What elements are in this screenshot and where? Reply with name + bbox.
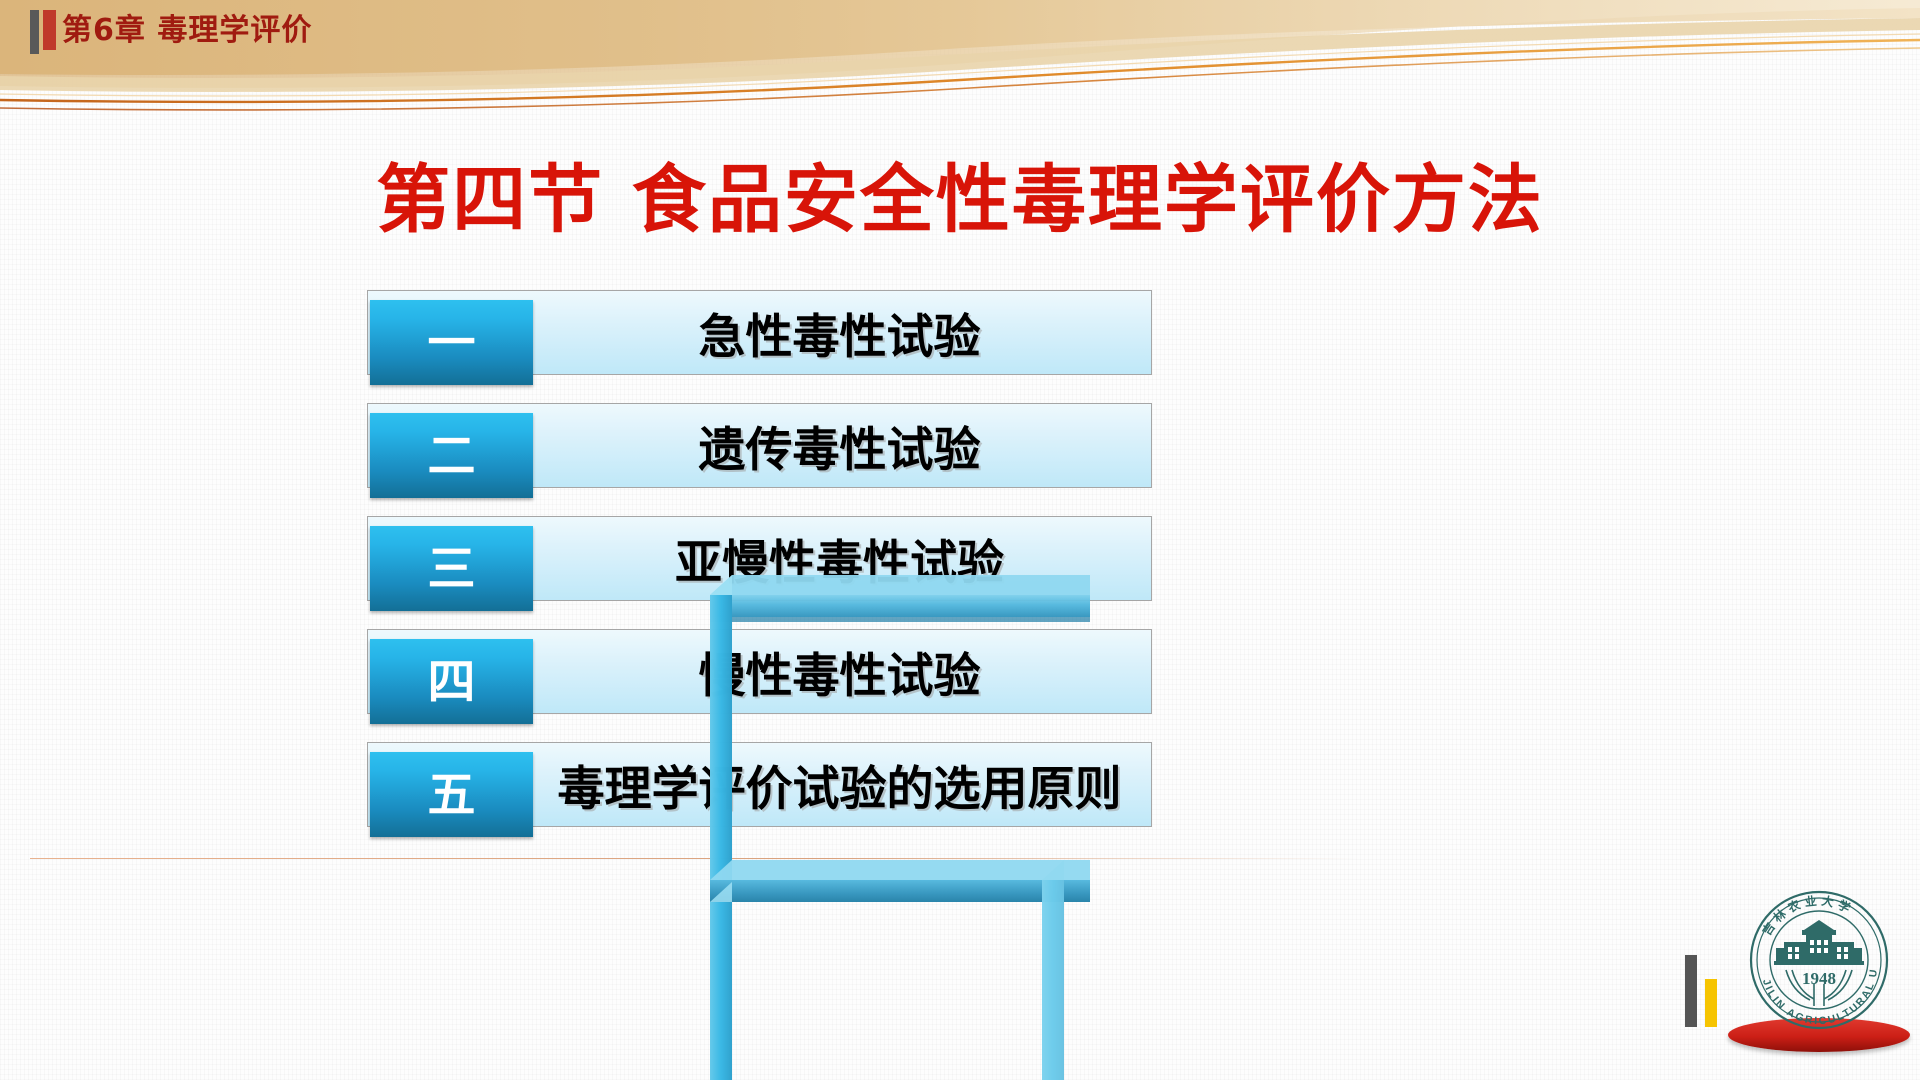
list-item-number: 五	[370, 752, 533, 837]
marker-bar-gray	[30, 10, 39, 54]
list-item-label: 慢性毒性试验	[546, 630, 1151, 713]
section-list: 一 急性毒性试验 二 遗传毒性试验 三 亚慢性毒性试验 四 慢性毒性试验 五 毒…	[367, 290, 1152, 855]
list-item-number: 一	[370, 300, 533, 385]
list-item-label: 亚慢性毒性试验	[546, 517, 1151, 600]
list-item-label: 毒理学评价试验的选用原则	[546, 743, 1151, 826]
list-item[interactable]: 三 亚慢性毒性试验	[367, 516, 1152, 601]
university-logo: 1948 JILIN AGRICULTURAL UNIVERSITY 吉林农业大…	[1640, 880, 1920, 1080]
bottom-divider	[30, 858, 1360, 859]
list-item[interactable]: 五 毒理学评价试验的选用原则	[367, 742, 1152, 827]
list-item-number: 三	[370, 526, 533, 611]
logo-bar-gray	[1685, 955, 1697, 1027]
chapter-title: 第6章 毒理学评价	[62, 5, 312, 49]
seal-year: 1948	[1802, 969, 1836, 988]
logo-accent-bars	[1685, 955, 1717, 1027]
list-item-number: 二	[370, 413, 533, 498]
list-item[interactable]: 四 慢性毒性试验	[367, 629, 1152, 714]
list-item-label: 急性毒性试验	[546, 291, 1151, 374]
marker-bar-red	[43, 10, 56, 50]
chapter-marker	[30, 10, 56, 54]
slide-canvas: 第6章 毒理学评价 第四节 食品安全性毒理学评价方法 一 急性毒性试验 二 遗传…	[0, 0, 1920, 1080]
list-item-number: 四	[370, 639, 533, 724]
list-item-label: 遗传毒性试验	[546, 404, 1151, 487]
list-item[interactable]: 一 急性毒性试验	[367, 290, 1152, 375]
university-seal-icon: 1948 JILIN AGRICULTURAL UNIVERSITY 吉林农业大…	[1728, 888, 1910, 1038]
logo-bar-yellow	[1705, 979, 1717, 1027]
page-title: 第四节 食品安全性毒理学评价方法	[0, 140, 1920, 247]
list-item[interactable]: 二 遗传毒性试验	[367, 403, 1152, 488]
